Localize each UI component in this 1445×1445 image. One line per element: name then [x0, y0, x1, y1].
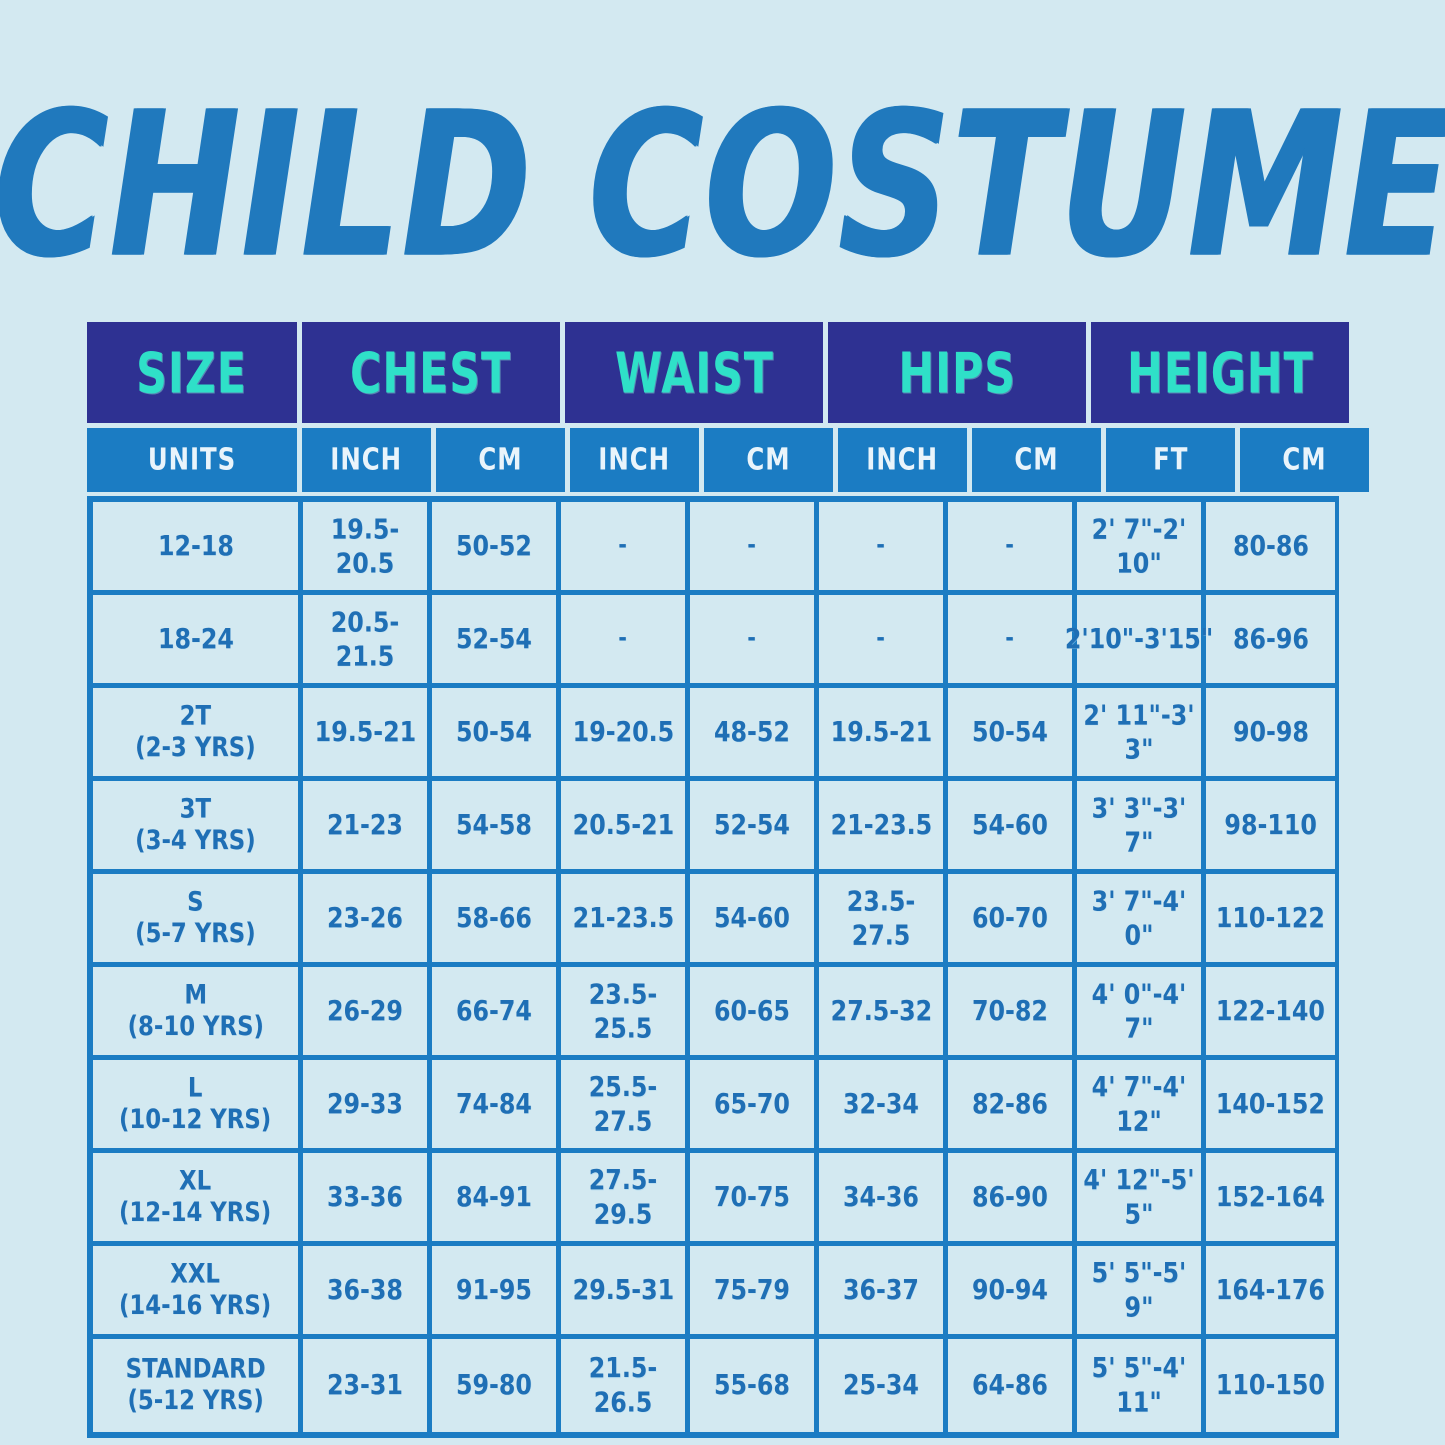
cell-value: 122-140: [1216, 994, 1325, 1028]
size-chart-page: CHILD COSTUME SIZECHESTWAISTHIPSHEIGHT U…: [0, 0, 1445, 1445]
cell-hips_cm: 60-70: [948, 874, 1077, 962]
cell-value: 3T (3-4 YRS): [135, 793, 255, 857]
cell-waist_inch: -: [561, 502, 690, 590]
cell-waist_cm: 48-52: [690, 688, 819, 776]
cell-chest_inch: 26-29: [303, 967, 432, 1055]
page-title: CHILD COSTUME: [0, 85, 1445, 286]
cell-value: 19.5-21: [314, 715, 416, 749]
cell-chest_cm: 50-54: [432, 688, 561, 776]
unit-header-cell-7: FT: [1106, 428, 1235, 492]
cell-value: 34-36: [843, 1180, 919, 1214]
cell-value: 36-38: [327, 1273, 403, 1307]
cell-height_cm: 122-140: [1206, 967, 1335, 1055]
cell-value: 55-68: [714, 1369, 790, 1403]
cell-hips_cm: 86-90: [948, 1153, 1077, 1241]
cell-height_cm: 110-150: [1206, 1339, 1335, 1432]
cell-hips_inch: 27.5-32: [819, 967, 948, 1055]
cell-waist_cm: 75-79: [690, 1246, 819, 1334]
cell-waist_cm: -: [690, 595, 819, 683]
cell-chest_inch: 23-31: [303, 1339, 432, 1432]
cell-size: XXL (14-16 YRS): [93, 1246, 303, 1334]
cell-waist_inch: 21-23.5: [561, 874, 690, 962]
cell-value: 110-122: [1216, 901, 1325, 935]
cell-size: M (8-10 YRS): [93, 967, 303, 1055]
cell-value: 74-84: [456, 1087, 532, 1121]
cell-value: 2T (2-3 YRS): [135, 700, 255, 764]
cell-hips_cm: -: [948, 502, 1077, 590]
cell-value: 84-91: [456, 1180, 532, 1214]
cell-chest_cm: 54-58: [432, 781, 561, 869]
unit-header-cell-8: CM: [1240, 428, 1369, 492]
cell-height_ft: 4' 0"-4' 7": [1077, 967, 1206, 1055]
cell-value: 2'10"-3'15": [1065, 622, 1213, 656]
cell-hips_cm: -: [948, 595, 1077, 683]
unit-header-cell-2: CM: [436, 428, 565, 492]
cell-chest_inch: 21-23: [303, 781, 432, 869]
cell-value: 58-66: [456, 901, 532, 935]
cell-value: 23.5-25.5: [566, 977, 680, 1044]
cell-waist_cm: 65-70: [690, 1060, 819, 1148]
cell-chest_cm: 91-95: [432, 1246, 561, 1334]
unit-header-label: CM: [478, 442, 522, 477]
cell-waist_cm: 54-60: [690, 874, 819, 962]
group-header-label: HIPS: [898, 340, 1016, 406]
cell-value: -: [619, 531, 628, 561]
group-header-label: WAIST: [615, 340, 774, 406]
unit-header-cell-4: CM: [704, 428, 833, 492]
cell-height_cm: 86-96: [1206, 595, 1335, 683]
cell-waist_cm: 70-75: [690, 1153, 819, 1241]
cell-waist_inch: 25.5-27.5: [561, 1060, 690, 1148]
unit-header-label: INCH: [599, 442, 671, 477]
table-row: M (8-10 YRS)26-2966-7423.5-25.560-6527.5…: [93, 967, 1333, 1060]
cell-value: -: [748, 624, 757, 654]
cell-value: 20.5-21: [572, 808, 674, 842]
table-row: XL (12-14 YRS)33-3684-9127.5-29.570-7534…: [93, 1153, 1333, 1246]
cell-height_cm: 140-152: [1206, 1060, 1335, 1148]
cell-hips_cm: 50-54: [948, 688, 1077, 776]
cell-value: 52-54: [714, 808, 790, 842]
cell-value: 75-79: [714, 1273, 790, 1307]
cell-value: 19.5-21: [830, 715, 932, 749]
cell-height_ft: 5' 5"-5' 9": [1077, 1246, 1206, 1334]
cell-chest_cm: 84-91: [432, 1153, 561, 1241]
table-row: S (5-7 YRS)23-2658-6621-23.554-6023.5-27…: [93, 874, 1333, 967]
cell-value: 21-23.5: [830, 808, 932, 842]
cell-size: STANDARD (5-12 YRS): [93, 1339, 303, 1432]
cell-value: 3' 3"-3' 7": [1082, 791, 1196, 858]
cell-value: 5' 5"-4' 11": [1082, 1352, 1196, 1419]
group-header-hips: HIPS: [828, 322, 1086, 423]
cell-waist_inch: 27.5-29.5: [561, 1153, 690, 1241]
cell-value: 70-82: [972, 994, 1048, 1028]
cell-waist_inch: 20.5-21: [561, 781, 690, 869]
cell-chest_inch: 33-36: [303, 1153, 432, 1241]
cell-waist_inch: 19-20.5: [561, 688, 690, 776]
cell-height_ft: 2'10"-3'15": [1077, 595, 1206, 683]
cell-chest_inch: 19.5-21: [303, 688, 432, 776]
cell-height_cm: 80-86: [1206, 502, 1335, 590]
cell-value: -: [877, 531, 886, 561]
cell-hips_inch: -: [819, 502, 948, 590]
cell-size: 18-24: [93, 595, 303, 683]
cell-value: 5' 5"-5' 9": [1082, 1256, 1196, 1323]
cell-height_ft: 2' 7"-2' 10": [1077, 502, 1206, 590]
cell-height_ft: 2' 11"-3' 3": [1077, 688, 1206, 776]
cell-waist_cm: 52-54: [690, 781, 819, 869]
cell-value: 23-26: [327, 901, 403, 935]
cell-value: 50-52: [456, 529, 532, 563]
cell-hips_cm: 90-94: [948, 1246, 1077, 1334]
group-header-label: CHEST: [350, 340, 511, 406]
cell-chest_cm: 59-80: [432, 1339, 561, 1432]
cell-hips_inch: 21-23.5: [819, 781, 948, 869]
cell-hips_cm: 70-82: [948, 967, 1077, 1055]
cell-value: 27.5-29.5: [566, 1163, 680, 1230]
cell-hips_cm: 64-86: [948, 1339, 1077, 1432]
cell-height_ft: 3' 7"-4' 0": [1077, 874, 1206, 962]
chart-title-container: CHILD COSTUME: [0, 78, 1445, 293]
cell-value: 54-60: [714, 901, 790, 935]
cell-value: 21-23: [327, 808, 403, 842]
cell-value: 23.5-27.5: [824, 884, 938, 951]
cell-value: XL (12-14 YRS): [119, 1165, 271, 1229]
cell-value: 59-80: [456, 1369, 532, 1403]
unit-header-label: INCH: [867, 442, 939, 477]
cell-value: 65-70: [714, 1087, 790, 1121]
cell-value: 36-37: [843, 1273, 919, 1307]
cell-height_cm: 110-122: [1206, 874, 1335, 962]
group-header-label: SIZE: [137, 340, 248, 406]
cell-value: 19-20.5: [572, 715, 674, 749]
unit-header-cell-6: CM: [972, 428, 1101, 492]
unit-header-cell-3: INCH: [570, 428, 699, 492]
cell-value: 32-34: [843, 1087, 919, 1121]
cell-value: 26-29: [327, 994, 403, 1028]
cell-hips_inch: 32-34: [819, 1060, 948, 1148]
cell-value: 70-75: [714, 1180, 790, 1214]
table-row: L (10-12 YRS)29-3374-8425.5-27.565-7032-…: [93, 1060, 1333, 1153]
cell-value: 82-86: [972, 1087, 1048, 1121]
cell-size: L (10-12 YRS): [93, 1060, 303, 1148]
cell-height_ft: 4' 12"-5' 5": [1077, 1153, 1206, 1241]
cell-chest_cm: 58-66: [432, 874, 561, 962]
cell-value: 50-54: [456, 715, 532, 749]
cell-value: -: [877, 624, 886, 654]
cell-value: L (10-12 YRS): [119, 1072, 271, 1136]
group-header-label: HEIGHT: [1127, 340, 1314, 406]
table-row: 12-1819.5-20.550-52----2' 7"-2' 10"80-86: [93, 502, 1333, 595]
cell-waist_cm: -: [690, 502, 819, 590]
cell-value: 12-18: [158, 529, 234, 563]
table-row: 2T (2-3 YRS)19.5-2150-5419-20.548-5219.5…: [93, 688, 1333, 781]
cell-value: 25-34: [843, 1369, 919, 1403]
cell-value: 4' 12"-5' 5": [1082, 1163, 1196, 1230]
cell-value: 60-65: [714, 994, 790, 1028]
cell-value: -: [1006, 624, 1015, 654]
unit-header-cell-5: INCH: [838, 428, 967, 492]
cell-value: 25.5-27.5: [566, 1070, 680, 1137]
cell-hips_inch: 34-36: [819, 1153, 948, 1241]
group-header-height: HEIGHT: [1091, 322, 1349, 423]
cell-value: 2' 11"-3' 3": [1082, 698, 1196, 765]
cell-waist_cm: 60-65: [690, 967, 819, 1055]
cell-value: 52-54: [456, 622, 532, 656]
cell-value: 50-54: [972, 715, 1048, 749]
cell-value: 90-94: [972, 1273, 1048, 1307]
cell-waist_inch: -: [561, 595, 690, 683]
unit-header-row: UNITSINCHCMINCHCMINCHCMFTCM: [87, 428, 1339, 492]
table-row: XXL (14-16 YRS)36-3891-9529.5-3175-7936-…: [93, 1246, 1333, 1339]
size-chart-table: SIZECHESTWAISTHIPSHEIGHT UNITSINCHCMINCH…: [87, 322, 1339, 1438]
unit-header-label: INCH: [331, 442, 403, 477]
cell-value: -: [748, 531, 757, 561]
cell-chest_cm: 50-52: [432, 502, 561, 590]
group-header-chest: CHEST: [302, 322, 560, 423]
table-body: 12-1819.5-20.550-52----2' 7"-2' 10"80-86…: [87, 496, 1339, 1438]
cell-value: 54-58: [456, 808, 532, 842]
table-row: 3T (3-4 YRS)21-2354-5820.5-2152-5421-23.…: [93, 781, 1333, 874]
cell-value: 64-86: [972, 1369, 1048, 1403]
cell-value: 19.5-20.5: [308, 512, 422, 579]
cell-value: 29-33: [327, 1087, 403, 1121]
cell-chest_inch: 20.5-21.5: [303, 595, 432, 683]
cell-value: 140-152: [1216, 1087, 1325, 1121]
cell-value: 86-96: [1233, 622, 1309, 656]
cell-value: 152-164: [1216, 1180, 1325, 1214]
cell-height_cm: 90-98: [1206, 688, 1335, 776]
cell-hips_inch: 19.5-21: [819, 688, 948, 776]
cell-value: 23-31: [327, 1369, 403, 1403]
cell-hips_inch: -: [819, 595, 948, 683]
cell-size: S (5-7 YRS): [93, 874, 303, 962]
cell-value: 20.5-21.5: [308, 605, 422, 672]
cell-height_ft: 4' 7"-4' 12": [1077, 1060, 1206, 1148]
group-header-row: SIZECHESTWAISTHIPSHEIGHT: [87, 322, 1339, 423]
cell-value: 29.5-31: [572, 1273, 674, 1307]
cell-chest_inch: 36-38: [303, 1246, 432, 1334]
cell-size: XL (12-14 YRS): [93, 1153, 303, 1241]
cell-value: -: [1006, 531, 1015, 561]
cell-value: 86-90: [972, 1180, 1048, 1214]
cell-value: 66-74: [456, 994, 532, 1028]
cell-height_cm: 164-176: [1206, 1246, 1335, 1334]
cell-value: 33-36: [327, 1180, 403, 1214]
cell-waist_cm: 55-68: [690, 1339, 819, 1432]
unit-header-label: FT: [1153, 442, 1188, 477]
group-header-waist: WAIST: [565, 322, 823, 423]
cell-size: 12-18: [93, 502, 303, 590]
table-row: 18-2420.5-21.552-54----2'10"-3'15"86-96: [93, 595, 1333, 688]
cell-value: 80-86: [1233, 529, 1309, 563]
cell-value: 3' 7"-4' 0": [1082, 884, 1196, 951]
cell-hips_inch: 36-37: [819, 1246, 948, 1334]
cell-value: 90-98: [1233, 715, 1309, 749]
cell-value: XXL (14-16 YRS): [119, 1258, 271, 1322]
cell-value: -: [619, 624, 628, 654]
cell-value: 110-150: [1216, 1369, 1325, 1403]
cell-value: 98-110: [1224, 808, 1316, 842]
cell-value: 4' 0"-4' 7": [1082, 977, 1196, 1044]
cell-value: 4' 7"-4' 12": [1082, 1070, 1196, 1137]
cell-value: S (5-7 YRS): [135, 886, 255, 950]
cell-hips_cm: 54-60: [948, 781, 1077, 869]
cell-value: 2' 7"-2' 10": [1082, 512, 1196, 579]
cell-chest_cm: 66-74: [432, 967, 561, 1055]
unit-header-label: CM: [746, 442, 790, 477]
cell-chest_inch: 23-26: [303, 874, 432, 962]
cell-height_ft: 3' 3"-3' 7": [1077, 781, 1206, 869]
cell-value: STANDARD (5-12 YRS): [125, 1353, 265, 1417]
cell-value: M (8-10 YRS): [127, 979, 263, 1043]
cell-value: 21-23.5: [572, 901, 674, 935]
cell-hips_cm: 82-86: [948, 1060, 1077, 1148]
cell-value: 60-70: [972, 901, 1048, 935]
cell-chest_cm: 74-84: [432, 1060, 561, 1148]
cell-hips_inch: 23.5-27.5: [819, 874, 948, 962]
unit-header-label: CM: [1014, 442, 1058, 477]
cell-chest_inch: 19.5-20.5: [303, 502, 432, 590]
cell-size: 2T (2-3 YRS): [93, 688, 303, 776]
cell-value: 48-52: [714, 715, 790, 749]
unit-header-label: CM: [1282, 442, 1326, 477]
cell-value: 54-60: [972, 808, 1048, 842]
unit-header-cell-1: INCH: [302, 428, 431, 492]
unit-header-cell-0: UNITS: [87, 428, 297, 492]
cell-waist_inch: 23.5-25.5: [561, 967, 690, 1055]
cell-chest_cm: 52-54: [432, 595, 561, 683]
cell-height_cm: 152-164: [1206, 1153, 1335, 1241]
cell-size: 3T (3-4 YRS): [93, 781, 303, 869]
cell-hips_inch: 25-34: [819, 1339, 948, 1432]
cell-height_ft: 5' 5"-4' 11": [1077, 1339, 1206, 1432]
cell-value: 18-24: [158, 622, 234, 656]
table-row: STANDARD (5-12 YRS)23-3159-8021.5-26.555…: [93, 1339, 1333, 1432]
cell-value: 27.5-32: [830, 994, 932, 1028]
cell-value: 164-176: [1216, 1273, 1325, 1307]
cell-waist_inch: 29.5-31: [561, 1246, 690, 1334]
unit-header-label: UNITS: [148, 442, 236, 477]
cell-height_cm: 98-110: [1206, 781, 1335, 869]
cell-chest_inch: 29-33: [303, 1060, 432, 1148]
group-header-size: SIZE: [87, 322, 297, 423]
cell-waist_inch: 21.5-26.5: [561, 1339, 690, 1432]
cell-value: 21.5-26.5: [566, 1352, 680, 1419]
cell-value: 91-95: [456, 1273, 532, 1307]
